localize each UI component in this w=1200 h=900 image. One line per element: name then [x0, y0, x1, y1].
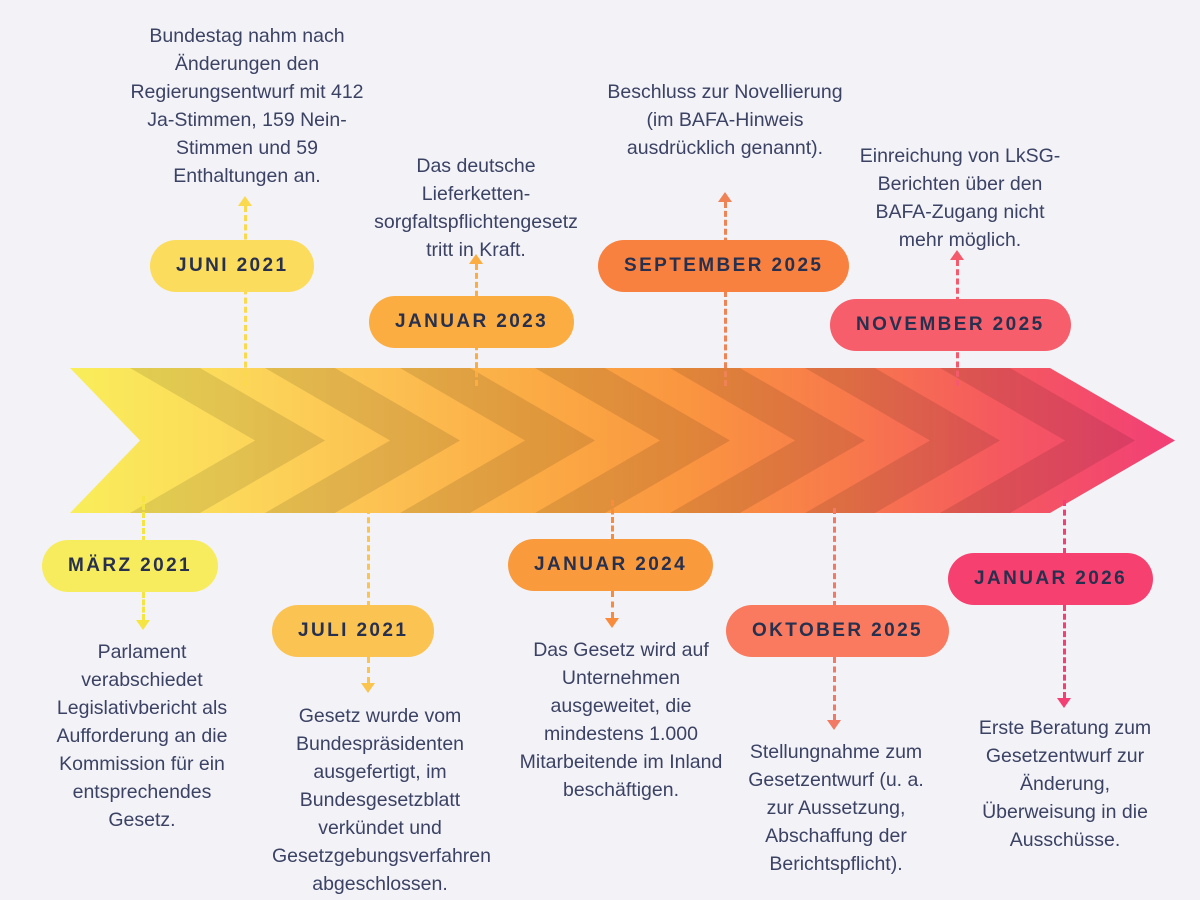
event-description-januar-2023: Das deutsche Lieferketten-sorgfaltspflic… [372, 152, 580, 264]
connector-maerz-2021-top [142, 496, 145, 542]
event-description-juli-2021: Gesetz wurde vom Bundespräsidenten ausge… [272, 702, 488, 899]
connector-januar-2026-top [1063, 500, 1066, 554]
event-description-januar-2024: Das Gesetz wird auf Unternehmen ausgewei… [519, 636, 723, 804]
arrowhead-maerz-2021 [136, 620, 150, 630]
chevron-base [70, 368, 1175, 513]
connector-oktober-2025-bottom [833, 657, 836, 720]
event-pill-oktober-2025[interactable]: OKTOBER 2025 [726, 605, 949, 657]
event-description-september-2025: Beschluss zur Novellierung (im BAFA-Hinw… [604, 78, 846, 162]
arrowhead-januar-2024 [605, 618, 619, 628]
event-pill-november-2025[interactable]: NOVEMBER 2025 [830, 299, 1071, 351]
connector-september-2025 [724, 202, 727, 386]
event-pill-september-2025[interactable]: SEPTEMBER 2025 [598, 240, 849, 292]
connector-januar-2026-bottom [1063, 605, 1066, 698]
timeline-infographic: Bundestag nahm nach Änderungen den Regie… [0, 0, 1200, 900]
connector-juli-2021-top [367, 508, 370, 607]
arrowhead-juni-2021 [238, 196, 252, 206]
arrowhead-januar-2026 [1057, 698, 1071, 708]
chevron-segment-shading [130, 368, 1135, 513]
connector-januar-2024-bottom [611, 591, 614, 618]
event-pill-januar-2023[interactable]: JANUAR 2023 [369, 296, 574, 348]
connector-juni-2021 [244, 206, 247, 386]
arrowhead-oktober-2025 [827, 720, 841, 730]
event-description-januar-2026: Erste Beratung zum Gesetzentwurf zur Änd… [962, 714, 1168, 854]
connector-juli-2021-bottom [367, 657, 370, 683]
event-description-maerz-2021: Parlament verabschiedet Legislativberich… [38, 638, 246, 835]
arrowhead-november-2025 [950, 250, 964, 260]
event-description-november-2025: Einreichung von LkSG-Berichten über den … [855, 142, 1065, 254]
connector-oktober-2025-top [833, 508, 836, 607]
event-pill-juli-2021[interactable]: JULI 2021 [272, 605, 434, 657]
connector-januar-2024-top [611, 500, 614, 540]
arrowhead-juli-2021 [361, 683, 375, 693]
arrowhead-september-2025 [718, 192, 732, 202]
event-pill-januar-2024[interactable]: JANUAR 2024 [508, 539, 713, 591]
event-pill-juni-2021[interactable]: JUNI 2021 [150, 240, 314, 292]
event-description-oktober-2025: Stellungnahme zum Gesetzentwurf (u. a. z… [738, 738, 934, 878]
event-description-juni-2021: Bundestag nahm nach Änderungen den Regie… [128, 22, 366, 190]
arrowhead-januar-2023 [469, 254, 483, 264]
connector-maerz-2021-bottom [142, 592, 145, 620]
event-pill-januar-2026[interactable]: JANUAR 2026 [948, 553, 1153, 605]
event-pill-maerz-2021[interactable]: MÄRZ 2021 [42, 540, 218, 592]
